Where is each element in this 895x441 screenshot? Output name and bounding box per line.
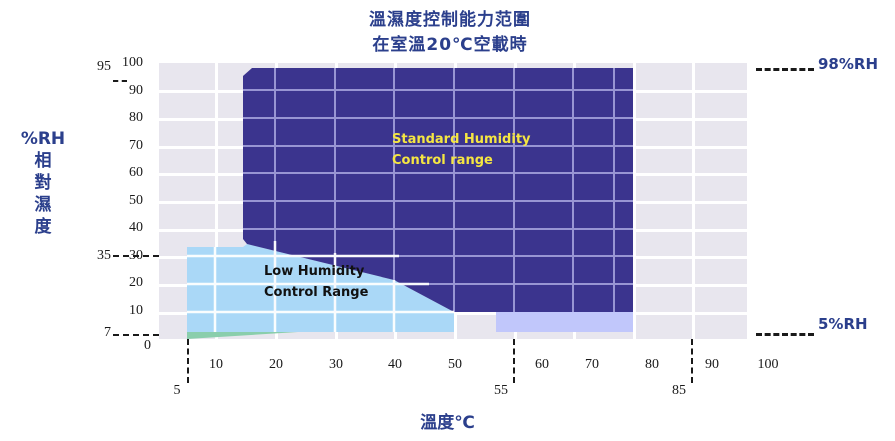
y-tick-80: 80 — [129, 110, 143, 126]
y-tick-40: 40 — [129, 220, 143, 236]
x-axis-labels: 10 20 30 40 50 60 70 80 90 100 5 55 85 — [0, 339, 895, 389]
x-dash-55 — [513, 339, 515, 383]
x-tick-100: 100 — [758, 357, 779, 373]
chart-root: 溫濕度控制能力范圍 在室溫20℃空載時 %RH 相 對 濕 度 100 90 8… — [0, 0, 895, 441]
annotation-standard-line2: Control range — [392, 150, 531, 171]
annotation-low-humidity: Low Humidity Control Range — [264, 261, 368, 303]
y-tick-60: 60 — [129, 165, 143, 181]
x-tick-50: 50 — [448, 357, 462, 373]
x-outer-85: 85 — [672, 383, 686, 399]
y-dash-7 — [113, 334, 159, 336]
annotation-standard-line1: Standard Humidity — [392, 129, 531, 150]
y-tick-70: 70 — [129, 138, 143, 154]
x-dash-5 — [187, 339, 189, 383]
annotation-low-line1: Low Humidity — [264, 261, 368, 282]
x-tick-20: 20 — [269, 357, 283, 373]
y-tick-10: 10 — [129, 303, 143, 319]
x-tick-30: 30 — [329, 357, 343, 373]
x-outer-5: 5 — [174, 383, 181, 399]
x-outer-55: 55 — [494, 383, 508, 399]
y-tick-20: 20 — [129, 275, 143, 291]
y-outer-35: 35 — [97, 248, 111, 264]
x-axis-title: 溫度℃ — [0, 408, 895, 433]
y-dash-95 — [113, 80, 127, 82]
y-axis-labels: 100 90 80 70 60 50 40 30 20 10 0 95 35 7 — [0, 63, 159, 339]
x-tick-60: 60 — [535, 357, 549, 373]
dash-line-98rh — [756, 68, 814, 71]
y-dash-35 — [113, 255, 159, 257]
y-tick-90: 90 — [129, 83, 143, 99]
annotation-standard-humidity: Standard Humidity Control range — [392, 129, 531, 171]
x-tick-10: 10 — [209, 357, 223, 373]
label-5rh: 5%RH — [818, 315, 868, 333]
x-tick-90: 90 — [705, 357, 719, 373]
chart-title: 溫濕度控制能力范圍 在室溫20℃空載時 — [230, 8, 670, 58]
chart-title-line1: 溫濕度控制能力范圍 — [230, 8, 670, 33]
x-tick-70: 70 — [585, 357, 599, 373]
region-high-temp-band — [496, 312, 633, 332]
y-outer-95: 95 — [97, 59, 111, 75]
x-dash-85 — [691, 339, 693, 383]
plot-area: Standard Humidity Control range Low Humi… — [159, 63, 750, 339]
data-regions — [159, 63, 750, 339]
annotation-low-line2: Control Range — [264, 282, 368, 303]
x-tick-40: 40 — [388, 357, 402, 373]
y-tick-50: 50 — [129, 193, 143, 209]
dash-line-5rh — [756, 333, 814, 336]
chart-title-line2: 在室溫20℃空載時 — [230, 33, 670, 58]
x-tick-80: 80 — [645, 357, 659, 373]
label-98rh: 98%RH — [818, 55, 878, 73]
y-tick-100: 100 — [122, 55, 143, 71]
